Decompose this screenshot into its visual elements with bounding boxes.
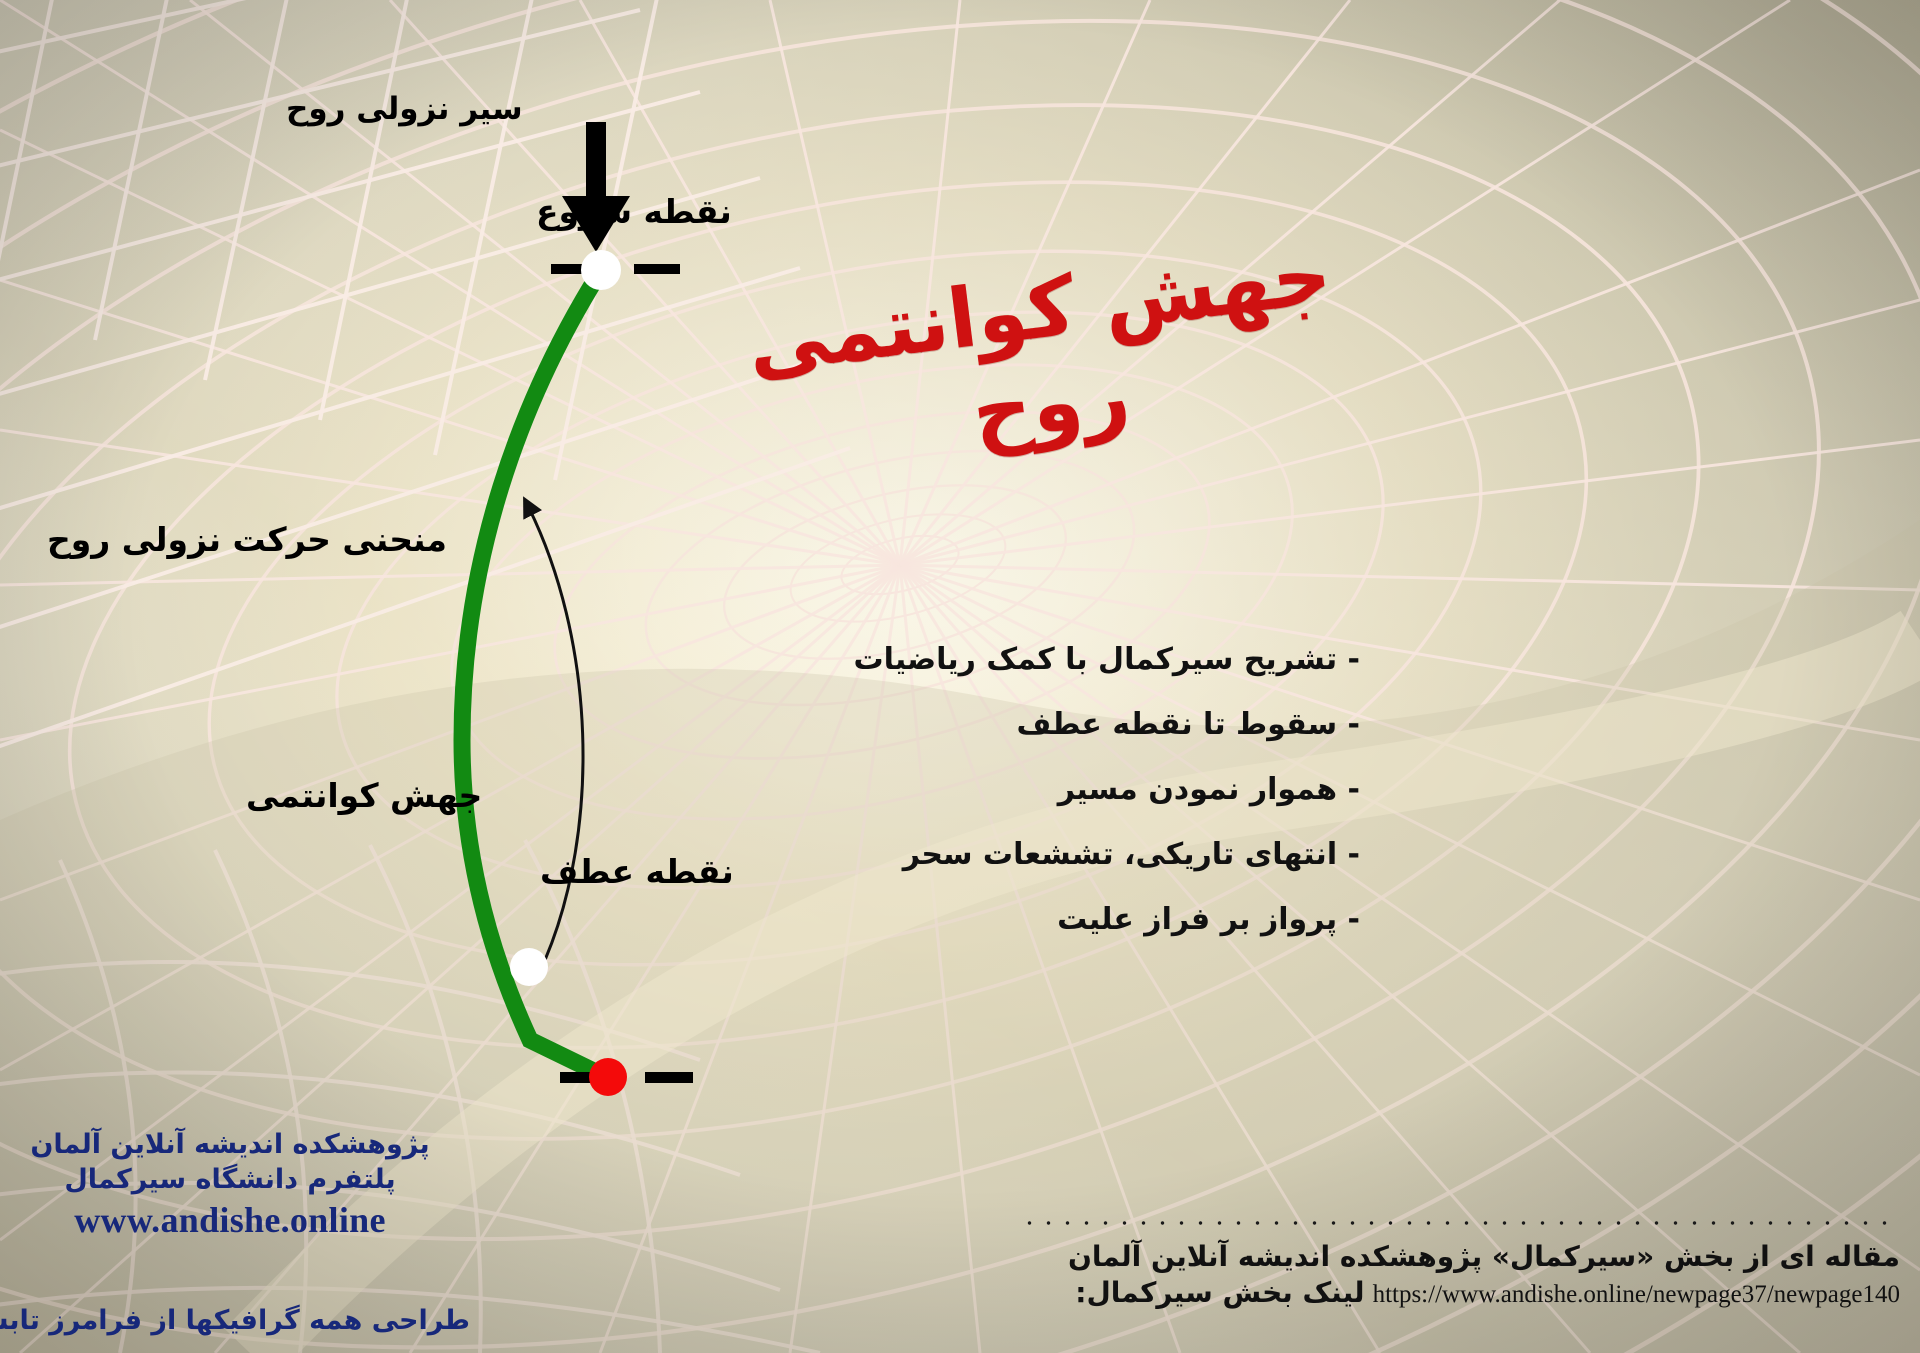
descent-arrow-icon (562, 122, 630, 252)
quantum-leap-label: جهش کوانتمی (246, 777, 482, 815)
list-item: - پرواز بر فراز علیت (840, 905, 1360, 935)
graphics-credit: طراحی همه گرافیکها از فرامرز تابش (0, 1305, 470, 1336)
footer-block: مقاله ای از بخش «سیرکمال» پژوهشکده اندیش… (1020, 1216, 1900, 1309)
footer-link-row: https://www.andishe.online/newpage37/new… (1020, 1276, 1900, 1309)
article-url[interactable]: https://www.andishe.online/newpage37/new… (1373, 1281, 1900, 1308)
list-item: - انتهای تاریکی، تششعات سحر (840, 840, 1360, 870)
start-point-label: نقطه شروع (536, 193, 732, 231)
infographic-canvas: جهش کوانتمی روح سیر نزولی روح نقطه شروع … (0, 0, 1920, 1353)
topic-list: - تشریح سیرکمال با کمک ریاضیات - سقوط تا… (840, 645, 1360, 970)
dotted-divider (1020, 1216, 1900, 1230)
start-point-marker (551, 251, 680, 289)
website-link[interactable]: www.andishe.online (0, 1199, 460, 1241)
list-item: - سقوط تا نقطه عطف (840, 710, 1360, 740)
source-line: مقاله ای از بخش «سیرکمال» پژوهشکده اندیش… (1020, 1238, 1900, 1276)
list-item: - تشریح سیرکمال با کمک ریاضیات (840, 645, 1360, 675)
quantum-leap-marker (510, 948, 548, 986)
inflection-point-label: نقطه عطف (540, 853, 734, 891)
institute-name: پژوهشکده اندیشه آنلاین آلمان (0, 1128, 460, 1163)
branding-block: پژوهشکده اندیشه آنلاین آلمان پلتفرم دانش… (0, 1128, 460, 1241)
link-label: لینک بخش سیرکمال: (1075, 1276, 1364, 1309)
curve-direction-arrow (525, 500, 583, 960)
platform-name: پلتفرم دانشگاه سیرکمال (0, 1163, 460, 1198)
descent-curve-label: منحنی حرکت نزولی روح (47, 521, 447, 559)
list-item: - هموار نمودن مسیر (840, 775, 1360, 805)
descent-label: سیر نزولی روح (286, 92, 523, 128)
